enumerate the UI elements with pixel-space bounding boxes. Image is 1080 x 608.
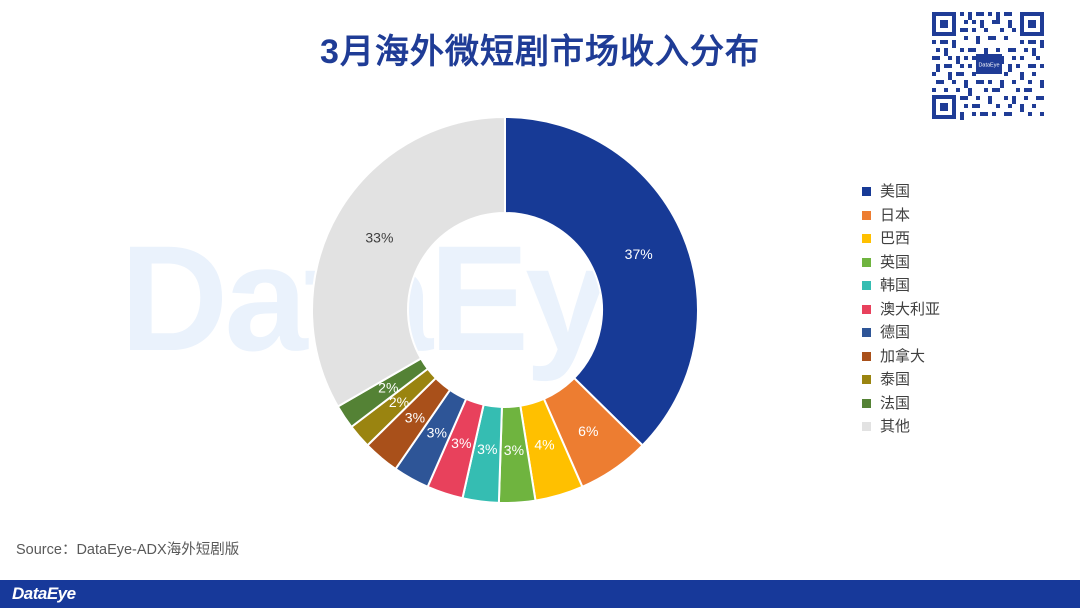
slice-value-label: 3% (451, 435, 471, 451)
donut-slice[interactable] (312, 117, 505, 407)
legend-swatch-icon (862, 328, 871, 337)
legend-item-label: 日本 (880, 208, 910, 223)
legend-item[interactable]: 日本 (862, 204, 1032, 228)
legend-item-label: 加拿大 (880, 349, 925, 364)
legend-item-label: 泰国 (880, 372, 910, 387)
donut-chart-svg: 37%6%4%3%3%3%3%3%2%2%33% (295, 105, 715, 515)
donut-chart: 37%6%4%3%3%3%3%3%2%2%33% (295, 105, 715, 515)
slice-value-label: 6% (578, 423, 598, 439)
legend-swatch-icon (862, 305, 871, 314)
slice-value-label: 4% (534, 437, 554, 453)
legend-item-label: 德国 (880, 325, 910, 340)
slice-value-label: 33% (365, 230, 393, 246)
legend-item[interactable]: 韩国 (862, 274, 1032, 298)
legend-swatch-icon (862, 375, 871, 384)
legend-swatch-icon (862, 399, 871, 408)
slice-value-label: 2% (378, 380, 398, 396)
legend-item[interactable]: 美国 (862, 180, 1032, 204)
slice-value-label: 2% (389, 394, 409, 410)
legend-swatch-icon (862, 187, 871, 196)
qr-center-label: DataEye (978, 63, 999, 69)
legend-item[interactable]: 加拿大 (862, 345, 1032, 369)
legend-swatch-icon (862, 234, 871, 243)
legend-item[interactable]: 其他 (862, 415, 1032, 439)
legend-item[interactable]: 法国 (862, 392, 1032, 416)
qr-code[interactable]: DataEye (928, 8, 1048, 123)
slide-canvas: 3月海外微短剧市场收入分布 (0, 0, 1080, 608)
footer-bar: DataEye (0, 580, 1080, 608)
qr-code-image: DataEye (928, 8, 1048, 123)
legend-item-label: 韩国 (880, 278, 910, 293)
legend-swatch-icon (862, 352, 871, 361)
legend-item-label: 英国 (880, 255, 910, 270)
legend-swatch-icon (862, 258, 871, 267)
legend-swatch-icon (862, 422, 871, 431)
legend-item-label: 法国 (880, 396, 910, 411)
dataeye-logo: DataEye (12, 584, 76, 604)
page-title: 3月海外微短剧市场收入分布 (0, 24, 1080, 73)
chart-legend: 美国日本巴西英国韩国澳大利亚德国加拿大泰国法国其他 (862, 180, 1032, 439)
legend-item-label: 美国 (880, 184, 910, 199)
legend-item[interactable]: 巴西 (862, 227, 1032, 251)
legend-item-label: 其他 (880, 419, 910, 434)
source-note: Source：DataEye-ADX海外短剧版 (16, 538, 239, 559)
legend-swatch-icon (862, 281, 871, 290)
legend-swatch-icon (862, 211, 871, 220)
legend-item-label: 澳大利亚 (880, 302, 940, 317)
legend-item[interactable]: 澳大利亚 (862, 298, 1032, 322)
slice-value-label: 3% (477, 441, 497, 457)
slice-value-label: 3% (504, 442, 524, 458)
slice-value-label: 3% (427, 425, 447, 441)
slice-value-label: 37% (625, 246, 653, 262)
donut-slice[interactable] (505, 117, 698, 445)
legend-item[interactable]: 德国 (862, 321, 1032, 345)
legend-item[interactable]: 英国 (862, 251, 1032, 275)
legend-item-label: 巴西 (880, 231, 910, 246)
legend-item[interactable]: 泰国 (862, 368, 1032, 392)
slice-value-label: 3% (405, 409, 425, 425)
